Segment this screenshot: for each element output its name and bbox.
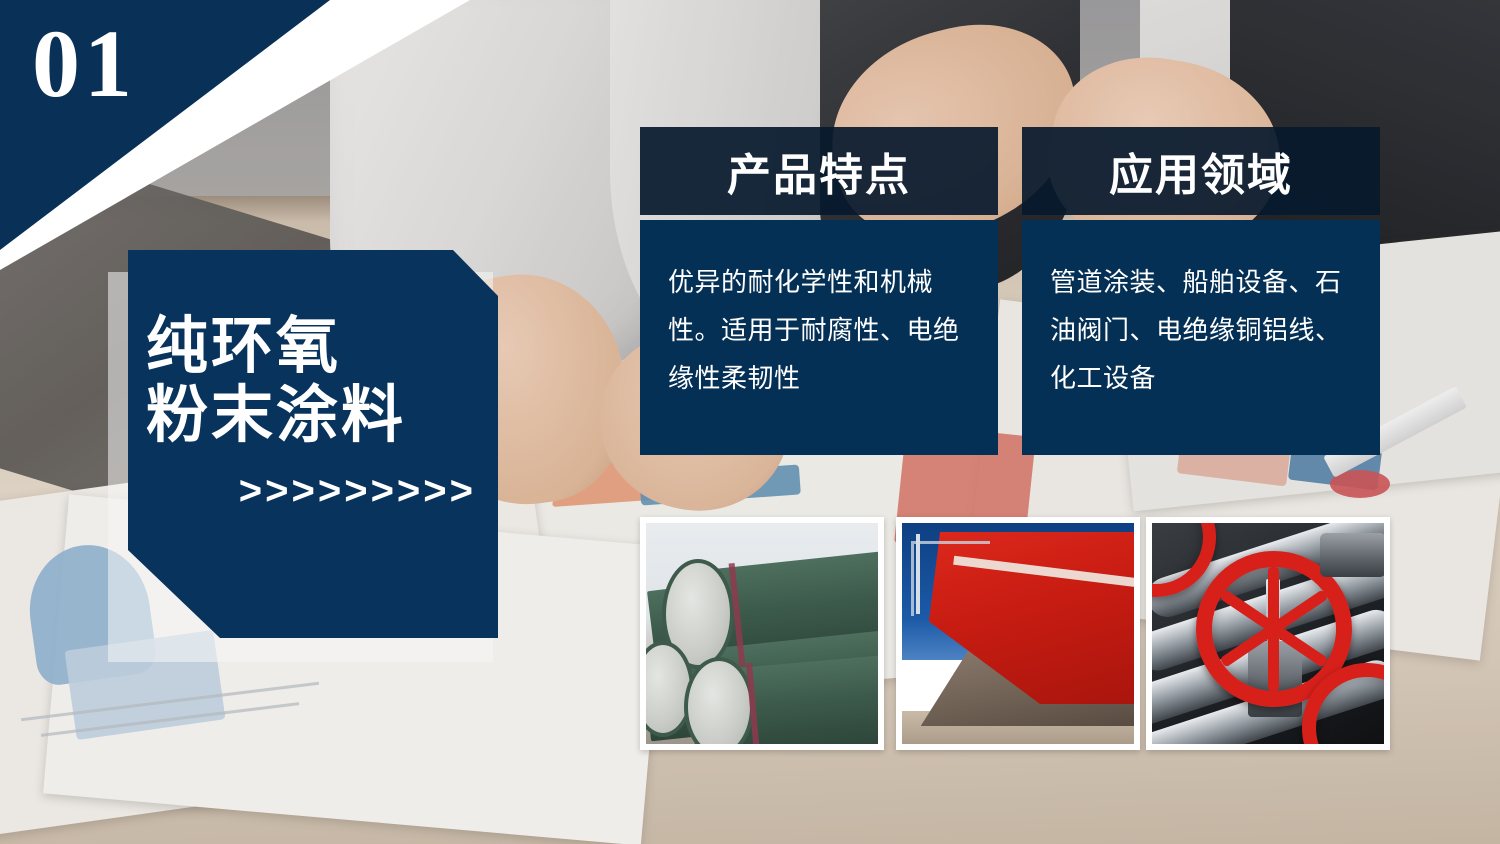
- slide-root: 01 纯环氧 粉末涂料 >>>>>>>>> 产品特点 优异的耐化学性和机械性。适…: [0, 0, 1500, 844]
- coated-pipes-photo-inner: [646, 523, 878, 744]
- ship-hull-photo-inner: [902, 523, 1134, 744]
- ship-mast: [916, 534, 920, 614]
- pipes-scene: [646, 523, 878, 744]
- panel-application-fields: 应用领域 管道涂装、船舶设备、石油阀门、电绝缘铜铝线、化工设备: [1022, 127, 1380, 455]
- coated-pipes-photo: [640, 517, 884, 750]
- panel-application-fields-header: 应用领域: [1022, 127, 1380, 215]
- panel-application-fields-text: 管道涂装、船舶设备、石油阀门、电绝缘铜铝线、化工设备: [1050, 258, 1352, 402]
- valve-flange: [1320, 533, 1384, 577]
- title-line-1: 纯环氧: [128, 312, 498, 381]
- panel-product-features: 产品特点 优异的耐化学性和机械性。适用于耐腐性、电绝缘性柔韧性: [640, 127, 998, 455]
- section-number: 01: [32, 16, 136, 112]
- panel-application-fields-body: 管道涂装、船舶设备、石油阀门、电绝缘铜铝线、化工设备: [1022, 220, 1380, 455]
- ship-railing: [911, 541, 990, 616]
- panel-product-features-text: 优异的耐化学性和机械性。适用于耐腐性、电绝缘性柔韧性: [668, 258, 970, 402]
- panel-product-features-title: 产品特点: [727, 139, 911, 203]
- panel-product-features-body: 优异的耐化学性和机械性。适用于耐腐性、电绝缘性柔韧性: [640, 220, 998, 455]
- valve-wheels-photo-inner: [1152, 523, 1384, 744]
- valve-wheels-photo: [1146, 517, 1390, 750]
- title-card: 纯环氧 粉末涂料 >>>>>>>>>: [128, 250, 498, 638]
- panel-application-fields-title: 应用领域: [1109, 139, 1293, 203]
- ship-hull-photo: [896, 517, 1140, 750]
- chevron-arrows-icon: >>>>>>>>>: [128, 469, 498, 514]
- panel-product-features-header: 产品特点: [640, 127, 998, 215]
- title-line-2: 粉末涂料: [128, 381, 498, 450]
